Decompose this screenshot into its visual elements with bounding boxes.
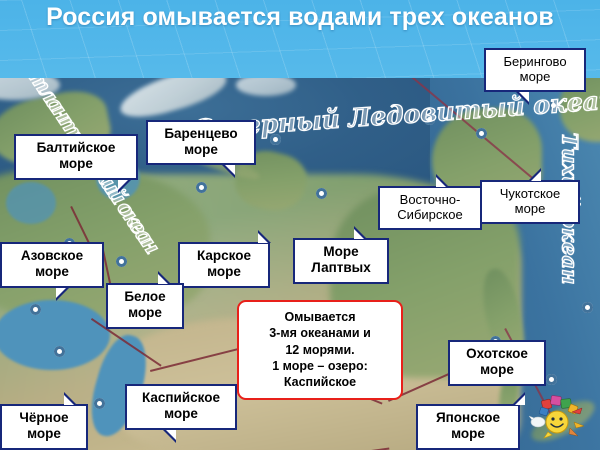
sea-label-bering[interactable]: Берингово море	[484, 48, 586, 92]
summary-callout[interactable]: Омывается 3-мя океанами и 12 морями. 1 м…	[237, 300, 403, 400]
map-marker	[582, 302, 593, 313]
sea-label-east-siberian-tail	[436, 174, 449, 187]
map-marker	[54, 346, 65, 357]
sea-label-barents-tail	[222, 165, 235, 178]
sea-label-azov-tail	[56, 288, 69, 301]
sea-label-laptev-tail	[354, 226, 367, 239]
sea-label-kara-tail	[258, 230, 271, 243]
map-marker	[476, 128, 487, 139]
sea-label-azov[interactable]: Азовское море	[0, 242, 104, 288]
sea-label-white-tail	[158, 271, 171, 284]
page-title: Россия омывается водами трех океанов	[40, 2, 560, 33]
sea-label-laptev[interactable]: Море Лаптвых	[293, 238, 389, 284]
sea-label-chukchi[interactable]: Чукотское море	[480, 180, 580, 224]
sea-label-white[interactable]: Белое море	[106, 283, 184, 329]
water-baltic-sea	[6, 182, 56, 224]
sea-label-japan-tail	[512, 392, 525, 405]
sea-label-black[interactable]: Чёрное море	[0, 404, 88, 450]
map-marker	[546, 374, 557, 385]
sea-label-barents[interactable]: Баренцево море	[146, 120, 256, 165]
sea-label-black-tail	[64, 392, 77, 405]
sea-label-east-siberian[interactable]: Восточно- Сибирское	[378, 186, 482, 230]
sea-label-baltic-tail	[118, 180, 131, 193]
sea-label-bering-tail	[516, 92, 529, 105]
sea-label-chukchi-tail	[528, 168, 541, 181]
map-marker	[116, 256, 127, 267]
sea-label-okhotsk[interactable]: Охотское море	[448, 340, 546, 386]
sea-label-caspian-tail	[163, 430, 176, 443]
smiley-clipart-icon	[528, 392, 586, 440]
sea-label-caspian[interactable]: Каспийское море	[125, 384, 237, 430]
map-marker	[94, 398, 105, 409]
map-marker	[196, 182, 207, 193]
map-marker	[316, 188, 327, 199]
sea-label-kara[interactable]: Карское море	[178, 242, 270, 288]
map-marker	[30, 304, 41, 315]
slide-canvas: Россия омывается водами трех океанов	[0, 0, 600, 450]
sea-label-baltic[interactable]: Балтийское море	[14, 134, 138, 180]
sea-label-japan[interactable]: Японское море	[416, 404, 520, 450]
